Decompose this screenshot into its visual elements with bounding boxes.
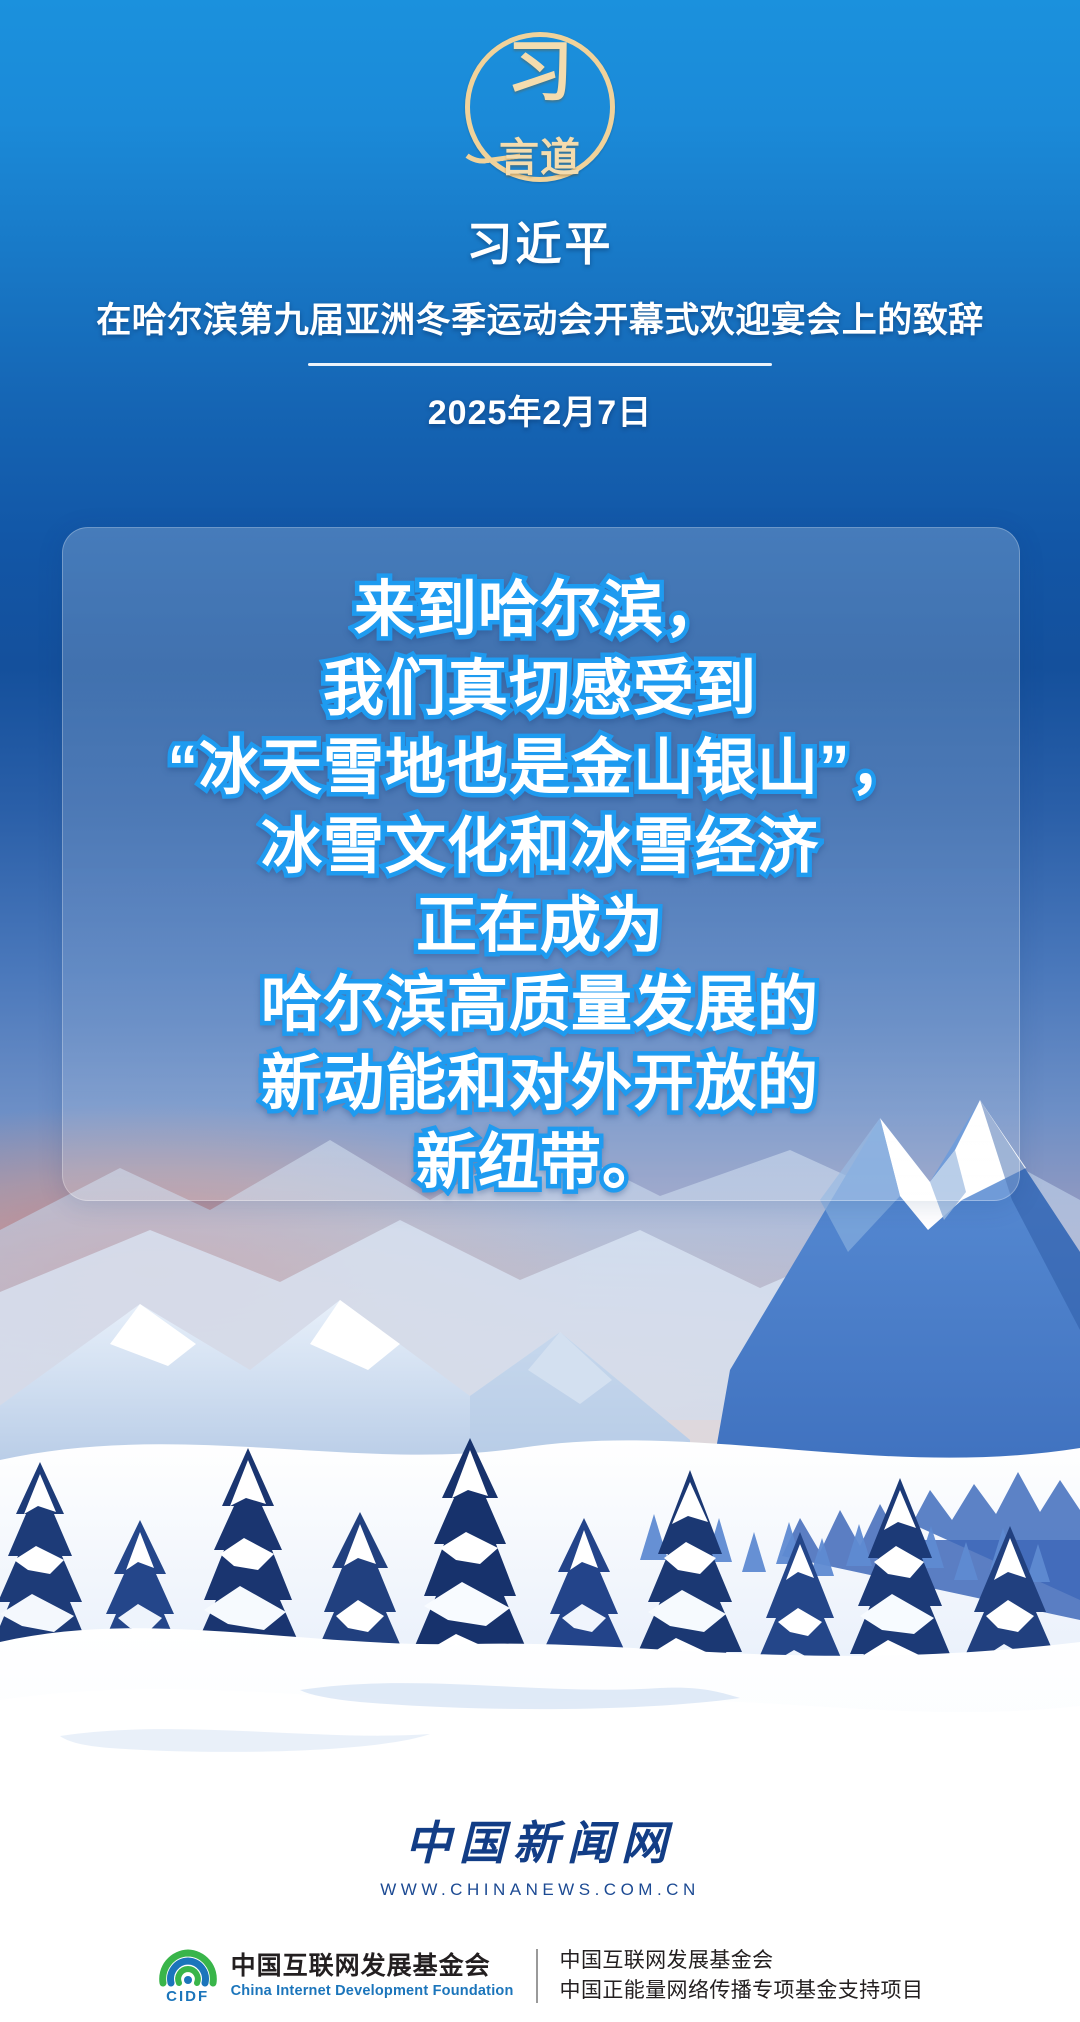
seal-bottom-chars: 言道: [465, 138, 615, 178]
speaker-name: 习近平: [0, 208, 1080, 274]
poster-header: 习 言道 习近平 在哈尔滨第九届亚洲冬季运动会开幕式欢迎宴会上的致辞 2025年…: [0, 0, 1080, 434]
footer-support-text: 中国互联网发展基金会 中国正能量网络传播专项基金支持项目: [560, 1946, 924, 2007]
cidf-name-en: China Internet Development Foundation: [231, 1983, 514, 1999]
quote-line: “冰天雪地也是金山银山”，: [0, 728, 1080, 807]
xi-yan-dao-seal-icon: 习 言道: [465, 32, 615, 182]
quote-line: 来到哈尔滨，: [0, 570, 1080, 649]
header-divider: [308, 363, 772, 366]
footer-support-line-1: 中国互联网发展基金会: [560, 1946, 924, 1976]
cidf-name-cn: 中国互联网发展基金会: [231, 1953, 514, 1981]
quote-line: 正在成为: [0, 886, 1080, 965]
footer-support-line-2: 中国正能量网络传播专项基金支持项目: [560, 1976, 924, 2006]
speech-date: 2025年2月7日: [0, 385, 1080, 434]
poster-root: 习 言道 习近平 在哈尔滨第九届亚洲冬季运动会开幕式欢迎宴会上的致辞 2025年…: [0, 0, 1080, 2022]
chinanews-logo-text: 中国新闻网: [0, 1807, 1080, 1873]
quote-line: 我们真切感受到: [0, 649, 1080, 728]
cidf-name-block: 中国互联网发展基金会 China Internet Development Fo…: [231, 1953, 514, 2000]
quote-text-block: 来到哈尔滨， 我们真切感受到 “冰天雪地也是金山银山”， 冰雪文化和冰雪经济 正…: [0, 570, 1080, 1202]
cidf-mark-icon: CIDF: [157, 1947, 219, 2005]
quote-line: 新纽带。: [0, 1123, 1080, 1202]
footer-bar: CIDF 中国互联网发展基金会 China Internet Developme…: [0, 1930, 1080, 2022]
footer-divider: [536, 1949, 538, 2003]
speech-title: 在哈尔滨第九届亚洲冬季运动会开幕式欢迎宴会上的致辞: [0, 292, 1080, 343]
chinanews-url: WWW.CHINANEWS.COM.CN: [0, 1880, 1080, 1900]
seal-top-char: 习: [465, 38, 615, 104]
quote-line: 哈尔滨高质量发展的: [0, 965, 1080, 1044]
chinanews-brand: 中国新闻网 WWW.CHINANEWS.COM.CN: [0, 1807, 1080, 1900]
cidf-abbreviation: CIDF: [157, 1988, 219, 2005]
cidf-logo: CIDF 中国互联网发展基金会 China Internet Developme…: [157, 1947, 514, 2005]
quote-line: 新动能和对外开放的: [0, 1044, 1080, 1123]
quote-line: 冰雪文化和冰雪经济: [0, 807, 1080, 886]
